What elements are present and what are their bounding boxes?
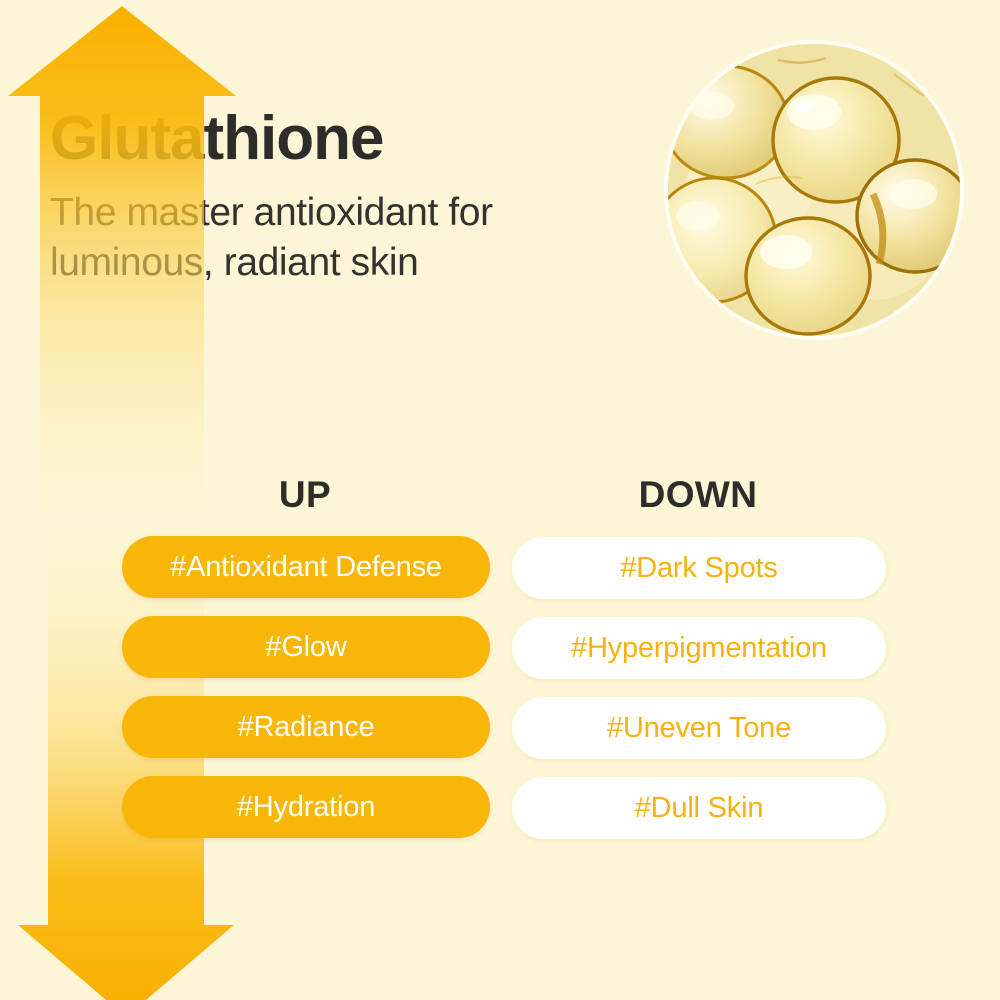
pill-down-1[interactable]: #Dark Spots <box>512 537 886 599</box>
pill-up-3[interactable]: #Radiance <box>122 696 490 758</box>
pill-down-3[interactable]: #Uneven Tone <box>512 697 886 759</box>
pill-up-2[interactable]: #Glow <box>122 616 490 678</box>
pill-down-4[interactable]: #Dull Skin <box>512 777 886 839</box>
pill-up-1[interactable]: #Antioxidant Defense <box>122 536 490 598</box>
column-heading-down: DOWN <box>588 474 808 516</box>
column-heading-up: UP <box>195 474 415 516</box>
pill-down-2[interactable]: #Hyperpigmentation <box>512 617 886 679</box>
arrow-up-icon <box>0 0 250 520</box>
capsule-photo <box>668 44 960 336</box>
infographic-poster: Glutathione The master antioxidant for l… <box>0 0 1000 1000</box>
pill-up-4[interactable]: #Hydration <box>122 776 490 838</box>
